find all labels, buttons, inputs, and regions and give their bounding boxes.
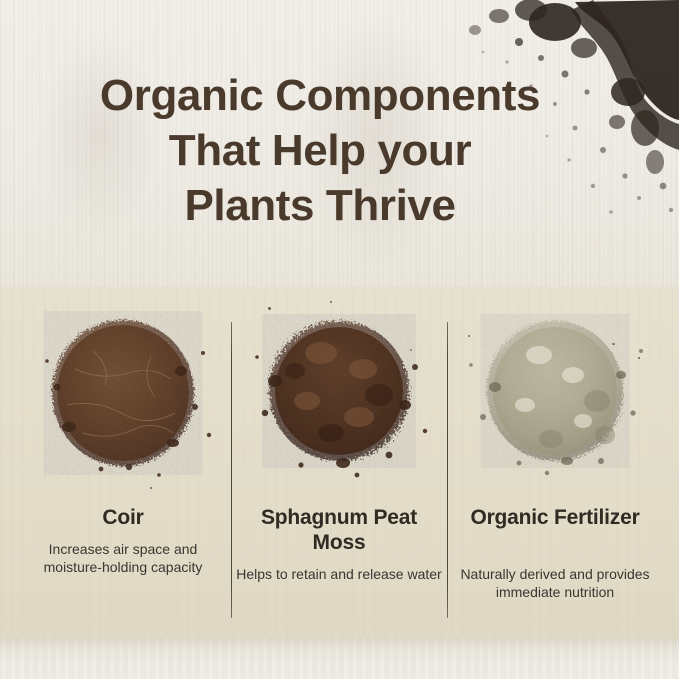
infographic-page: Organic Components That Help your Plants… — [0, 0, 679, 679]
component-column-coir: Coir Increases air space and moisture-ho… — [15, 287, 231, 638]
component-title: Coir — [23, 505, 223, 530]
component-description: Increases air space and moisture-holding… — [19, 540, 227, 576]
headline-line-1: Organic Components — [0, 68, 640, 123]
components-section: Coir Increases air space and moisture-ho… — [0, 287, 679, 638]
component-title: Sphagnum Peat Moss — [239, 505, 439, 555]
peat-moss-pile-image — [231, 309, 447, 479]
coir-pile-graphic — [23, 309, 223, 479]
headline-line-3: Plants Thrive — [0, 178, 640, 233]
page-title: Organic Components That Help your Plants… — [0, 68, 640, 233]
bottom-wood-background — [0, 638, 679, 679]
top-wood-background: Organic Components That Help your Plants… — [0, 0, 679, 287]
headline-line-2: That Help your — [0, 123, 640, 178]
component-description: Helps to retain and release water — [235, 565, 443, 583]
organic-fertilizer-pile-image — [447, 309, 663, 479]
component-column-peat-moss: Sphagnum Peat Moss Helps to retain and r… — [231, 287, 447, 638]
component-description: Naturally derived and provides immediate… — [451, 565, 659, 601]
organic-fertilizer-pile-graphic — [455, 309, 655, 479]
component-title: Organic Fertilizer — [455, 505, 655, 530]
coir-pile-image — [15, 309, 231, 479]
component-column-organic-fertilizer: Organic Fertilizer Naturally derived and… — [447, 287, 663, 638]
peat-moss-pile-graphic — [239, 309, 439, 479]
